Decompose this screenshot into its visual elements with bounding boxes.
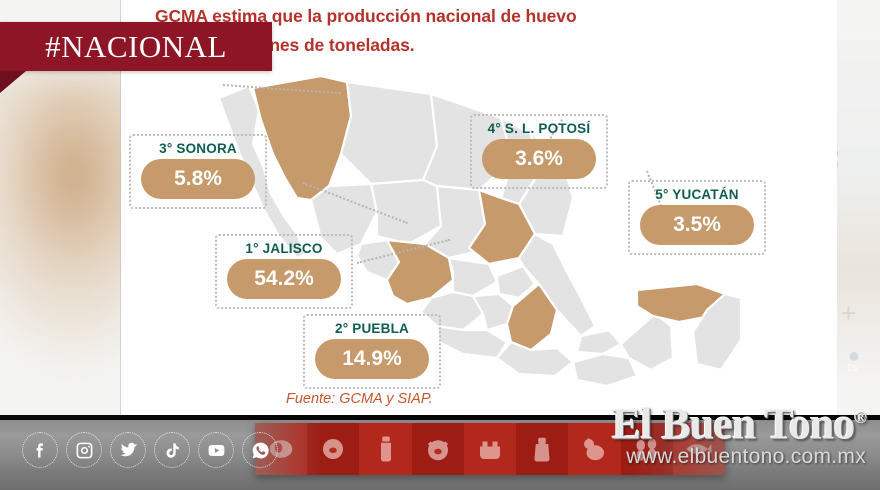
callout-value: 14.9% xyxy=(315,339,429,379)
state-guerrero xyxy=(437,326,507,358)
ribbon-fold xyxy=(0,71,26,93)
callout-jalisco[interactable]: 1° JALISCO 54.2% xyxy=(215,234,353,309)
callout-value: 5.8% xyxy=(141,159,255,199)
source-note: Fuente: GCMA y SIAP. xyxy=(286,391,433,407)
ribbon-body: #NACIONAL xyxy=(0,22,272,71)
plus-icon: + xyxy=(841,300,856,326)
registered-mark: ® xyxy=(854,408,866,427)
callout-label: 2° PUEBLA xyxy=(315,321,429,336)
callout-label: 4° S. L. POTOSÍ xyxy=(482,121,596,136)
callout-san-luis-potosi[interactable]: 4° S. L. POTOSÍ 3.6% xyxy=(470,114,608,189)
logo-name-text: El Buen Tono xyxy=(612,400,854,449)
callout-label: 5° YUCATÁN xyxy=(640,187,754,202)
callout-box: 3° SONORA 5.8% xyxy=(129,134,267,209)
callout-value: 3.5% xyxy=(640,205,754,245)
logo-ghost-text: ts xyxy=(847,360,858,374)
callout-box: 5° YUCATÁN 3.5% xyxy=(628,180,766,255)
callout-label: 1° JALISCO xyxy=(227,241,341,256)
callout-yucatan[interactable]: 5° YUCATÁN 3.5% xyxy=(628,180,766,255)
callout-sonora[interactable]: 3° SONORA 5.8% xyxy=(129,134,267,209)
callout-puebla[interactable]: 2° PUEBLA 14.9% xyxy=(303,314,441,389)
logo-wordmark: El Buen Tono® xyxy=(612,396,866,447)
nacional-ribbon: #NACIONAL xyxy=(0,22,272,71)
ribbon-label: #NACIONAL xyxy=(45,29,227,65)
logo-url: www.elbuentono.com.mx xyxy=(612,445,866,469)
site-logo[interactable]: El Buen Tono® www.elbuentono.com.mx xyxy=(612,396,866,469)
social-links xyxy=(22,432,278,468)
whatsapp-icon[interactable] xyxy=(242,432,278,468)
youtube-icon[interactable] xyxy=(198,432,234,468)
callout-value: 3.6% xyxy=(482,139,596,179)
callout-value: 54.2% xyxy=(227,259,341,299)
twitter-icon[interactable] xyxy=(110,432,146,468)
callout-box: 4° S. L. POTOSÍ 3.6% xyxy=(470,114,608,189)
infographic-screenshot: 24TH AVE S DR LOPEE RD + ● GCMA estima q… xyxy=(0,0,880,490)
callout-box: 1° JALISCO 54.2% xyxy=(215,234,353,309)
facebook-icon[interactable] xyxy=(22,432,58,468)
state-chihuahua xyxy=(341,82,437,184)
state-chiapas xyxy=(573,354,637,386)
instagram-icon[interactable] xyxy=(66,432,102,468)
state-guanajuato xyxy=(449,258,497,296)
callout-label: 3° SONORA xyxy=(141,141,255,156)
callout-box: 2° PUEBLA 14.9% xyxy=(303,314,441,389)
tiktok-icon[interactable] xyxy=(154,432,190,468)
